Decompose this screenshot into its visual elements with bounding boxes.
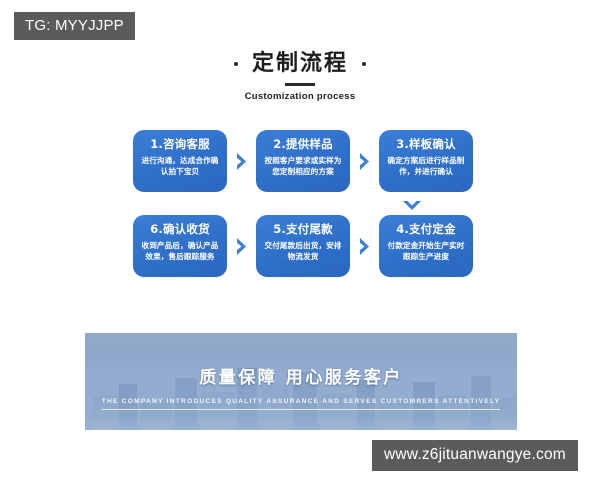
flow-node-title: 3.样板确认 xyxy=(396,138,456,151)
arrow-down-step-3-to-4 xyxy=(399,196,425,216)
flow-node-description: 按照客户要求或实样为您定制相应的方案 xyxy=(262,155,344,177)
flow-node-title: 4.支付定金 xyxy=(396,223,456,236)
title-underline-rule xyxy=(285,83,315,86)
page-title: 定制流程 xyxy=(252,52,348,76)
dot-decoration-right-icon xyxy=(362,62,366,66)
flow-node-step-1[interactable]: 1.咨询客服 进行沟通，达成合作确认拍下宝贝 xyxy=(133,130,227,192)
flow-node-title: 2.提供样品 xyxy=(273,138,333,151)
watermark-badge-top-left: TG: MYYJJPP xyxy=(14,12,135,40)
banner-text-block: 质量保障 用心服务客户 THE COMPANY INTRODUCES QUALI… xyxy=(85,363,517,410)
chevron-right-icon xyxy=(236,152,247,171)
flow-node-step-6[interactable]: 6.确认收货 收到产品后，确认产品效果，售后跟踪服务 xyxy=(133,215,227,277)
flow-node-title: 1.咨询客服 xyxy=(150,138,210,151)
dot-decoration-left-icon xyxy=(234,62,238,66)
flow-node-step-3[interactable]: 3.样板确认 确定方案后进行样品制作，并进行确认 xyxy=(379,130,473,192)
chevron-right-icon xyxy=(359,152,370,171)
quality-assurance-banner: 质量保障 用心服务客户 THE COMPANY INTRODUCES QUALI… xyxy=(85,333,517,430)
arrow-right-step-1-to-2 xyxy=(227,152,256,171)
flow-node-description: 收到产品后，确认产品效果，售后跟踪服务 xyxy=(139,240,221,262)
chevron-right-icon xyxy=(359,237,370,256)
chevron-down-icon xyxy=(402,200,422,212)
page-subtitle: Customization process xyxy=(0,91,600,102)
flow-node-description: 付款定金开始生产实时跟踪生产进度 xyxy=(385,240,467,262)
banner-subline: THE COMPANY INTRODUCES QUALITY ASSURANCE… xyxy=(102,398,501,410)
banner-headline: 质量保障 用心服务客户 xyxy=(85,363,517,388)
flow-node-title: 5.支付尾款 xyxy=(273,223,333,236)
flow-node-step-2[interactable]: 2.提供样品 按照客户要求或实样为您定制相应的方案 xyxy=(256,130,350,192)
flow-node-title: 6.确认收货 xyxy=(150,223,210,236)
page-title-block: 定制流程 Customization process xyxy=(0,52,600,102)
flow-row-bottom: 6.确认收货 收到产品后，确认产品效果，售后跟踪服务 5.支付尾款 交付尾款后出… xyxy=(133,215,473,277)
arrow-right-step-4-to-5 xyxy=(350,237,379,256)
watermark-badge-bottom-right: www.z6jituanwangye.com xyxy=(372,440,578,471)
flow-row-top: 1.咨询客服 进行沟通，达成合作确认拍下宝贝 2.提供样品 按照客户要求或实样为… xyxy=(133,130,473,192)
flow-node-step-5[interactable]: 5.支付尾款 交付尾款后出货，安排物流发货 xyxy=(256,215,350,277)
flow-node-description: 确定方案后进行样品制作，并进行确认 xyxy=(385,155,467,177)
title-row: 定制流程 xyxy=(0,52,600,76)
flow-node-description: 交付尾款后出货，安排物流发货 xyxy=(262,240,344,262)
flow-node-description: 进行沟通，达成合作确认拍下宝贝 xyxy=(139,155,221,177)
chevron-right-icon xyxy=(236,237,247,256)
flow-node-step-4[interactable]: 4.支付定金 付款定金开始生产实时跟踪生产进度 xyxy=(379,215,473,277)
arrow-right-step-2-to-3 xyxy=(350,152,379,171)
arrow-right-step-5-to-6 xyxy=(227,237,256,256)
